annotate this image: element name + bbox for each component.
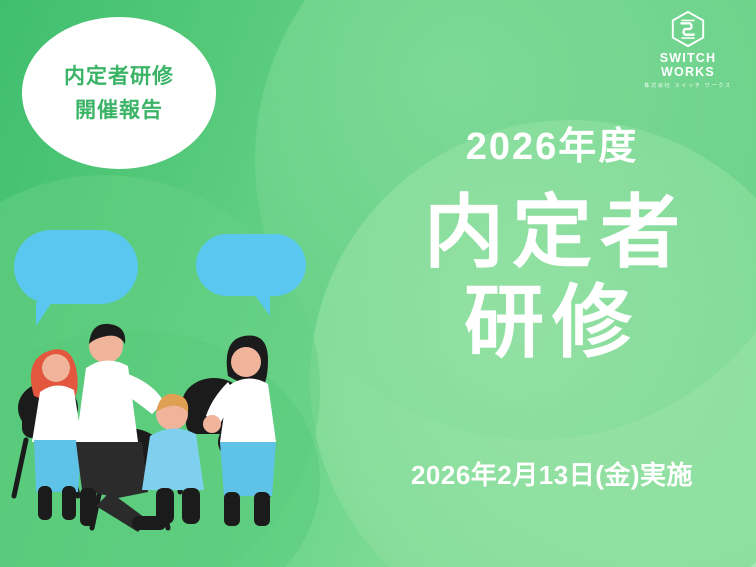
company-logo-subtitle: 株式会社 スイッチ ワークス	[644, 82, 731, 89]
switchworks-hex-icon	[669, 10, 707, 48]
company-logo: SWITCH WORKS 株式会社 スイッチ ワークス	[642, 10, 734, 89]
group-discussion-illustration	[0, 196, 330, 541]
company-logo-name: SWITCH WORKS	[660, 52, 717, 79]
report-badge: 内定者研修 開催報告	[22, 17, 216, 169]
page-title-line-2: 研修	[464, 278, 640, 367]
fiscal-year: 2026年度	[382, 128, 722, 166]
title-block: 2026年度 内定者 研修	[382, 128, 722, 367]
presentation-slide: 内定者研修 開催報告 SWITCH WORKS 株式会社 スイッチ ワークス 2…	[0, 0, 756, 567]
company-logo-name-line-2: WORKS	[661, 65, 715, 79]
report-badge-line-1: 内定者研修	[64, 66, 174, 87]
speech-bubble-icon-right	[196, 234, 306, 296]
company-logo-name-line-1: SWITCH	[660, 51, 717, 65]
report-badge-line-2: 開催報告	[75, 100, 163, 121]
page-title: 内定者 研修	[382, 188, 722, 367]
event-date: 2026年2月13日(金)実施	[382, 455, 722, 492]
page-title-line-1: 内定者	[424, 188, 688, 277]
speech-bubble-icon-left	[14, 230, 138, 304]
